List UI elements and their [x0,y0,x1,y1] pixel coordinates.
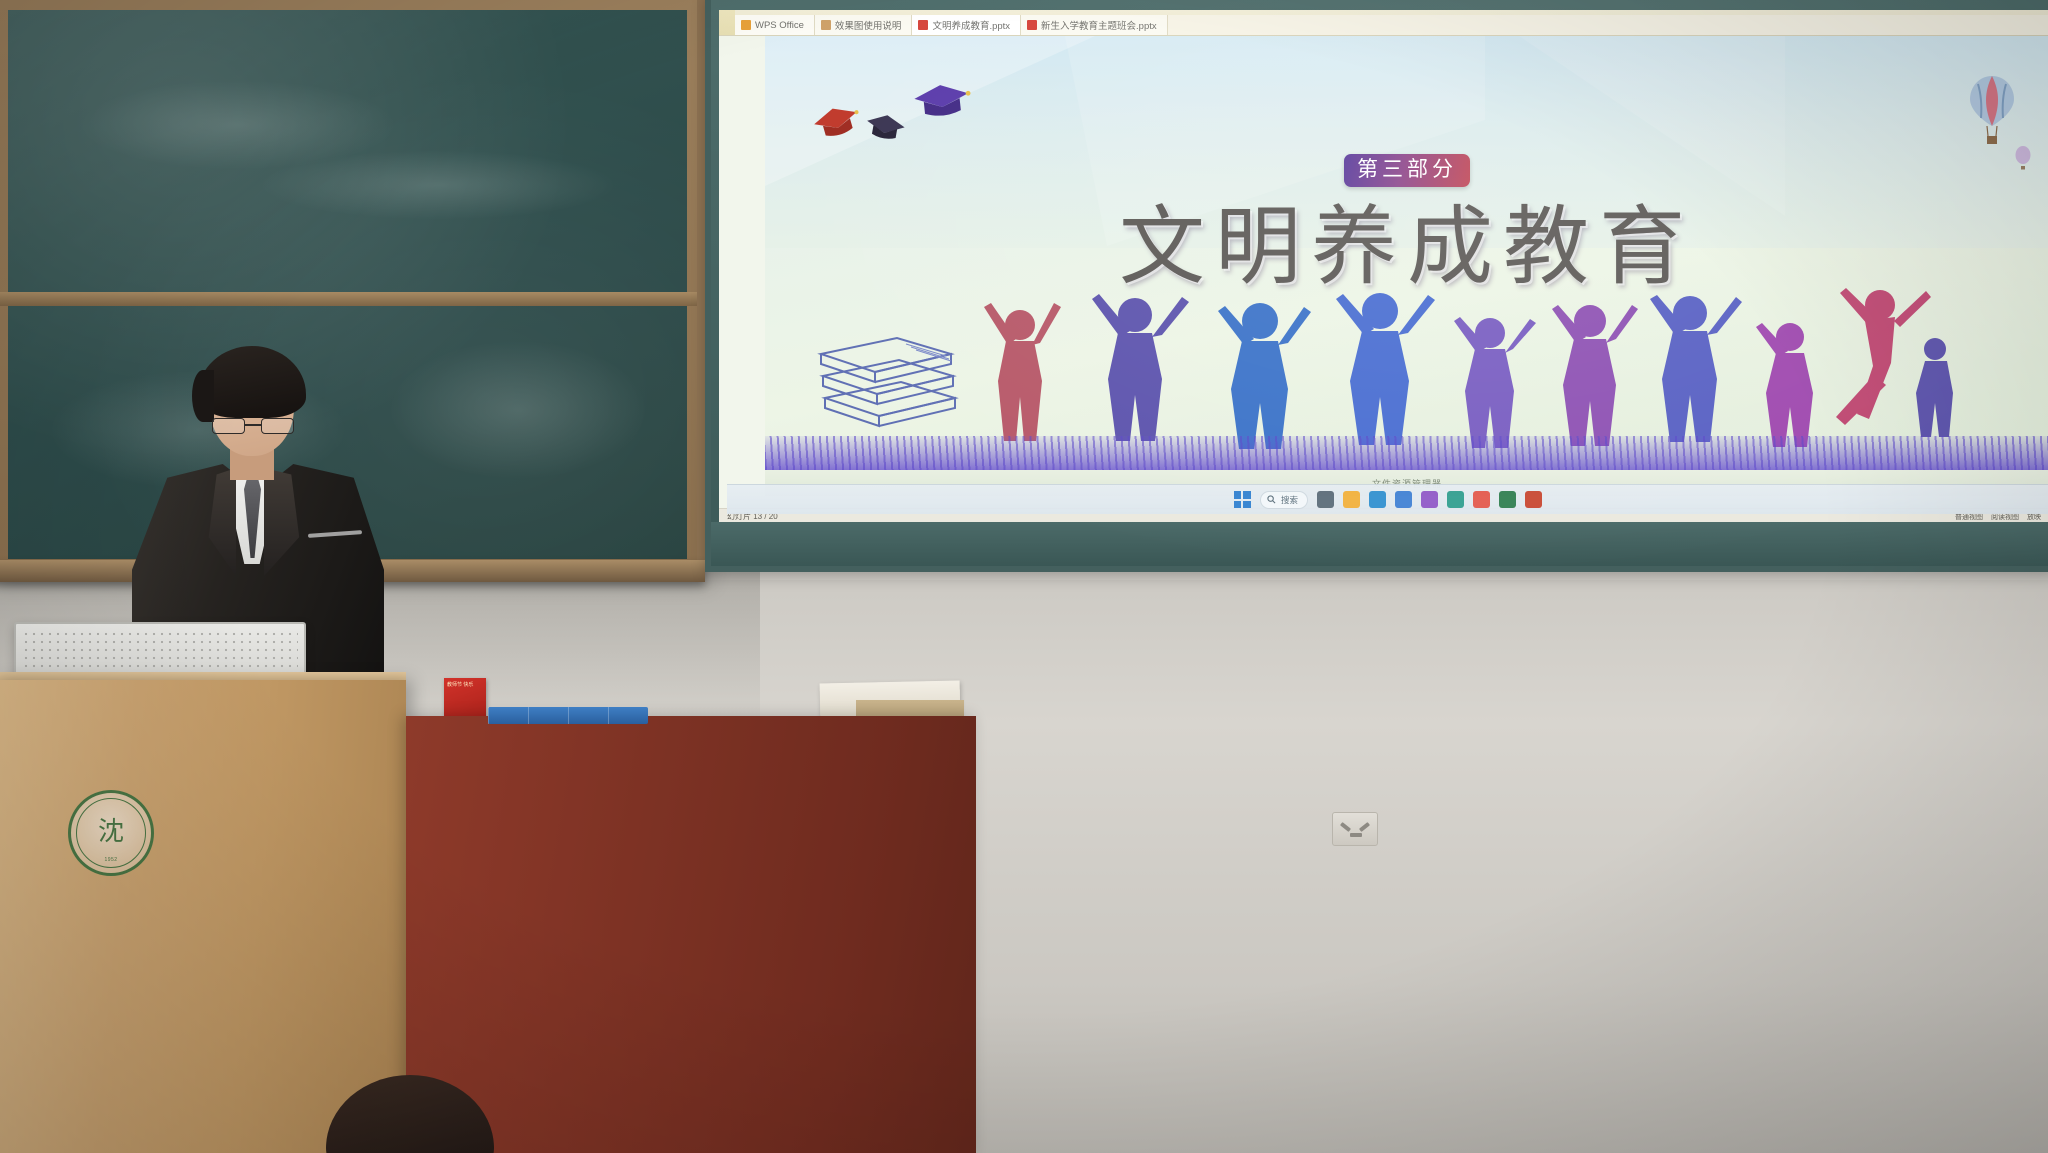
cheering-students-silhouette [960,277,1960,462]
slide-section-badge-wrap: 第三部分 [1344,154,1470,187]
wps-tab-filler [1168,15,2048,35]
presenter-table [406,716,976,1153]
presentation-icon [918,20,928,30]
chalk-smudge [78,80,398,170]
windows-taskbar[interactable]: 搜索 [727,484,2048,514]
wps-sidebar-rail [719,10,735,35]
podium [0,680,406,1153]
wps-home-tab-label: WPS Office [755,20,804,31]
document-icon [821,20,831,30]
graduation-caps-group [811,70,1001,150]
grass-band [765,436,2048,470]
photos-icon[interactable] [1421,491,1438,508]
wps-tab-presentation-active-label: 文明养成教育.pptx [932,18,1010,32]
mail-icon[interactable] [1395,491,1412,508]
stacked-books-icon [811,314,961,434]
wps-logo-icon [741,20,751,30]
graduation-cap-red-icon [811,104,863,144]
wall-power-socket [1332,812,1378,846]
chalk-smudge [258,150,618,220]
school-emblem: 沈 1952 [68,790,154,876]
presenter-hair [198,346,306,418]
edge-browser-icon[interactable] [1369,491,1386,508]
ppt-slide-canvas[interactable]: 第三部分 文明养成教育 [765,36,2048,496]
wps-writer-icon[interactable] [1499,491,1516,508]
chalk-smudge [388,340,648,480]
screen-bottom-bezel [711,522,2048,566]
projection-screen-panel: WPS Office 效果图使用说明 文明养成教育.pptx 新生入学教育主题班… [705,0,2048,572]
hot-air-balloon-icon [1969,74,2015,152]
wps-tab-bar[interactable]: WPS Office 效果图使用说明 文明养成教育.pptx 新生入学教育主题班… [719,10,2048,36]
slide-section-badge: 第三部分 [1344,154,1470,187]
task-view-icon[interactable] [1317,491,1334,508]
store-icon[interactable] [1447,491,1464,508]
projected-desktop: WPS Office 效果图使用说明 文明养成教育.pptx 新生入学教育主题班… [719,10,2048,524]
taskbar-search-box[interactable]: 搜索 [1260,491,1308,509]
graduation-cap-purple-icon [911,80,973,126]
hot-air-balloon-small-icon [2015,146,2031,172]
presentation-icon [1027,20,1037,30]
emblem-year: 1952 [104,858,117,864]
wps-home-tab[interactable]: WPS Office [735,15,815,35]
wps-presentation-icon[interactable] [1525,491,1542,508]
wps-tab-presentation-2[interactable]: 新生入学教育主题班会.pptx [1021,15,1168,35]
graduation-cap-dark-icon [863,112,907,146]
taskbar-search-label: 搜索 [1281,494,1298,506]
search-icon [1267,495,1276,504]
wps-tab-presentation-2-label: 新生入学教育主题班会.pptx [1041,18,1157,32]
wps-tab-document[interactable]: 效果图使用说明 [815,15,913,35]
windows-start-icon[interactable] [1234,491,1251,508]
chalkboard-divider [0,292,697,306]
wps-tab-presentation-active[interactable]: 文明养成教育.pptx [912,15,1021,35]
file-explorer-icon[interactable] [1343,491,1360,508]
chrome-icon[interactable] [1473,491,1490,508]
blue-banner-strip [488,707,648,724]
classroom-scene: WPS Office 效果图使用说明 文明养成教育.pptx 新生入学教育主题班… [0,0,2048,1153]
eyeglasses-icon [212,418,294,434]
wps-tab-document-label: 效果图使用说明 [835,18,902,32]
